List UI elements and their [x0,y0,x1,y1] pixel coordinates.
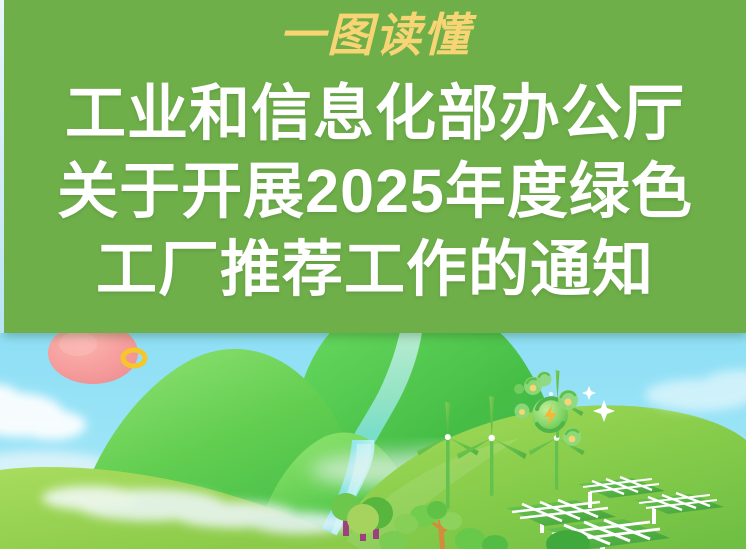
kicker-text: 一图读懂 [4,6,746,64]
header-left-edge [0,0,4,333]
energy-bubble-7 [549,392,553,396]
energy-bubble-2 [558,390,578,410]
energy-bubble-6 [514,384,524,394]
balloon-highlight [59,332,97,356]
title-line-2: 关于开展2025年度绿色 [4,152,746,230]
title-line-1: 工业和信息化部办公厅 [4,74,746,152]
header-panel: 一图读懂 工业和信息化部办公厅 关于开展2025年度绿色 工厂推荐工作的通知 [4,0,746,333]
energy-bubble-3 [563,428,581,446]
title-line-3: 工厂推荐工作的通知 [4,230,746,308]
energy-bubble-4 [515,404,530,419]
energy-bubble-5 [537,372,552,387]
poster-root: 一图读懂 工业和信息化部办公厅 关于开展2025年度绿色 工厂推荐工作的通知 [0,0,746,549]
poster-title: 工业和信息化部办公厅 关于开展2025年度绿色 工厂推荐工作的通知 [4,74,746,308]
